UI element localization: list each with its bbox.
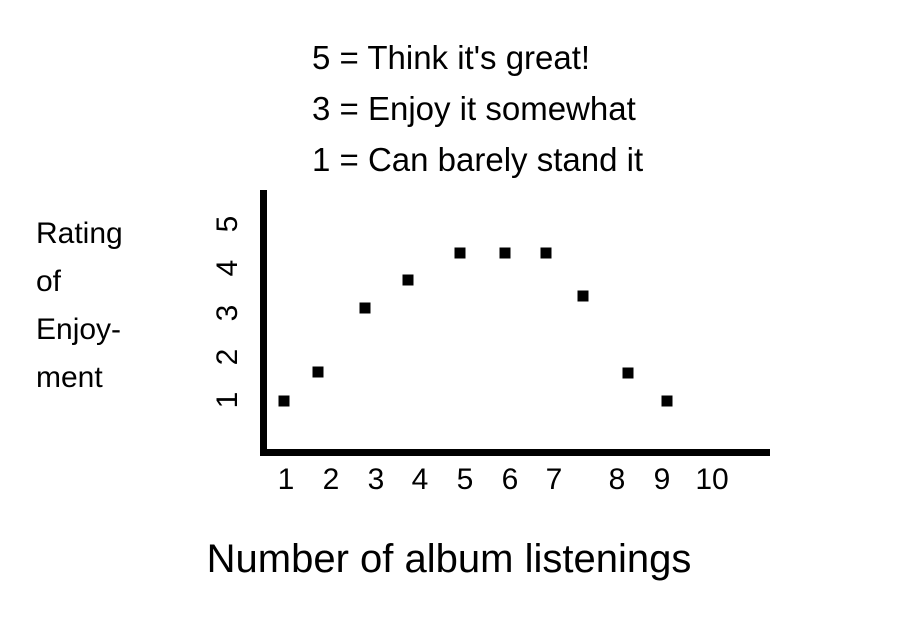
x-tick-label-7: 7: [546, 465, 563, 495]
data-point-10: [662, 396, 673, 407]
data-point-6: [500, 248, 511, 259]
data-point-9: [623, 368, 634, 379]
data-point-2: [313, 367, 324, 378]
x-tick-label-9: 9: [654, 465, 671, 495]
x-tick-label-4: 4: [412, 465, 429, 495]
x-tick-label-5: 5: [457, 465, 474, 495]
x-tick-label-6: 6: [502, 465, 519, 495]
chart-canvas: 5 = Think it's great! 3 = Enjoy it somew…: [0, 0, 898, 640]
data-point-8: [578, 291, 589, 302]
x-tick-label-1: 1: [278, 465, 295, 495]
x-tick-label-3: 3: [368, 465, 385, 495]
x-tick-label-10: 10: [695, 465, 728, 495]
data-point-3: [360, 303, 371, 314]
x-tick-label-8: 8: [609, 465, 626, 495]
data-point-7: [541, 248, 552, 259]
y-tick-label-1: 1: [213, 392, 243, 409]
data-point-1: [279, 396, 290, 407]
y-tick-label-3: 3: [213, 305, 243, 322]
y-tick-label-2: 2: [213, 349, 243, 366]
y-tick-label-5: 5: [213, 216, 243, 233]
y-tick-label-4: 4: [213, 260, 243, 277]
x-axis-title: Number of album listenings: [0, 535, 898, 583]
x-tick-label-2: 2: [323, 465, 340, 495]
x-axis-line: [260, 449, 770, 456]
data-point-4: [403, 275, 414, 286]
y-axis-line: [260, 190, 267, 456]
data-point-5: [455, 248, 466, 259]
